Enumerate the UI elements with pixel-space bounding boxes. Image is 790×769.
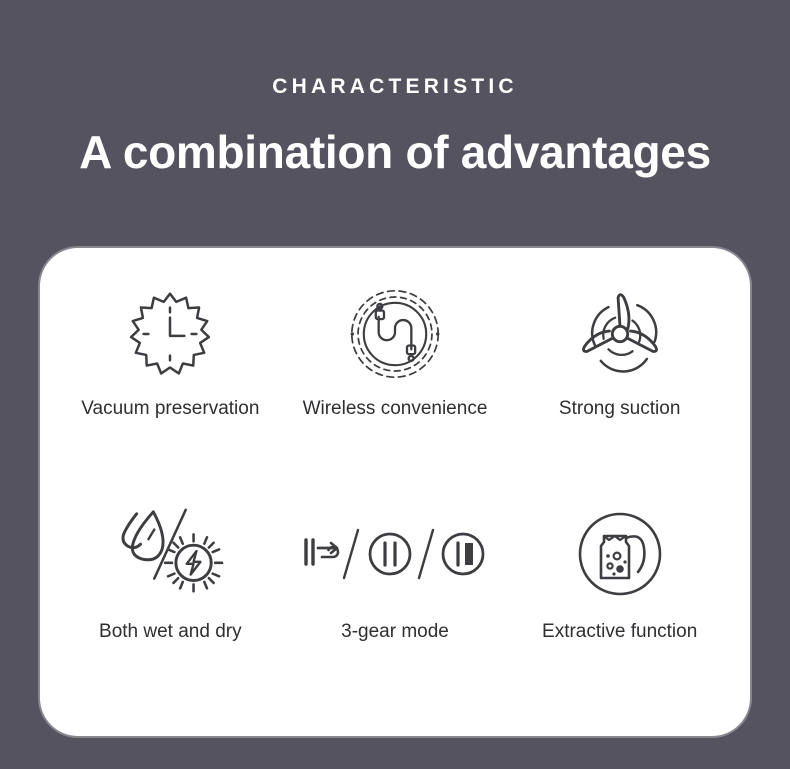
characteristic-page: CHARACTERISTIC A combination of advantag…: [0, 0, 790, 769]
feature-label: 3-gear mode: [341, 621, 449, 644]
feature-item-strong-suction[interactable]: Strong suction: [507, 282, 732, 499]
jar-with-hose-circle-icon: [570, 499, 670, 609]
feature-label: Strong suction: [559, 398, 680, 421]
features-card: Vacuum preservation: [40, 248, 750, 736]
feature-label: Vacuum preservation: [81, 398, 259, 421]
feature-item-extractive-function[interactable]: Extractive function: [507, 499, 732, 716]
features-grid: Vacuum preservation: [58, 282, 732, 716]
feature-item-3-gear-mode[interactable]: 3-gear mode: [283, 499, 508, 716]
three-gear-modes-icon: [300, 499, 490, 609]
feature-label: Wireless convenience: [303, 398, 488, 421]
feature-item-both-wet-and-dry[interactable]: Both wet and dry: [58, 499, 283, 716]
feature-label: Both wet and dry: [99, 621, 242, 644]
page-header: CHARACTERISTIC A combination of advantag…: [0, 0, 790, 175]
section-eyebrow: CHARACTERISTIC: [0, 76, 790, 97]
cable-in-dashed-circle-icon: [347, 282, 443, 386]
feature-label: Extractive function: [542, 621, 697, 644]
feature-item-wireless-convenience[interactable]: Wireless convenience: [283, 282, 508, 499]
feature-item-vacuum-preservation[interactable]: Vacuum preservation: [58, 282, 283, 499]
starburst-clock-icon: [122, 282, 218, 386]
water-drops-slash-sun-bolt-icon: [111, 499, 229, 609]
three-blade-fan-icon: [572, 282, 668, 386]
page-title: A combination of advantages: [0, 129, 790, 175]
